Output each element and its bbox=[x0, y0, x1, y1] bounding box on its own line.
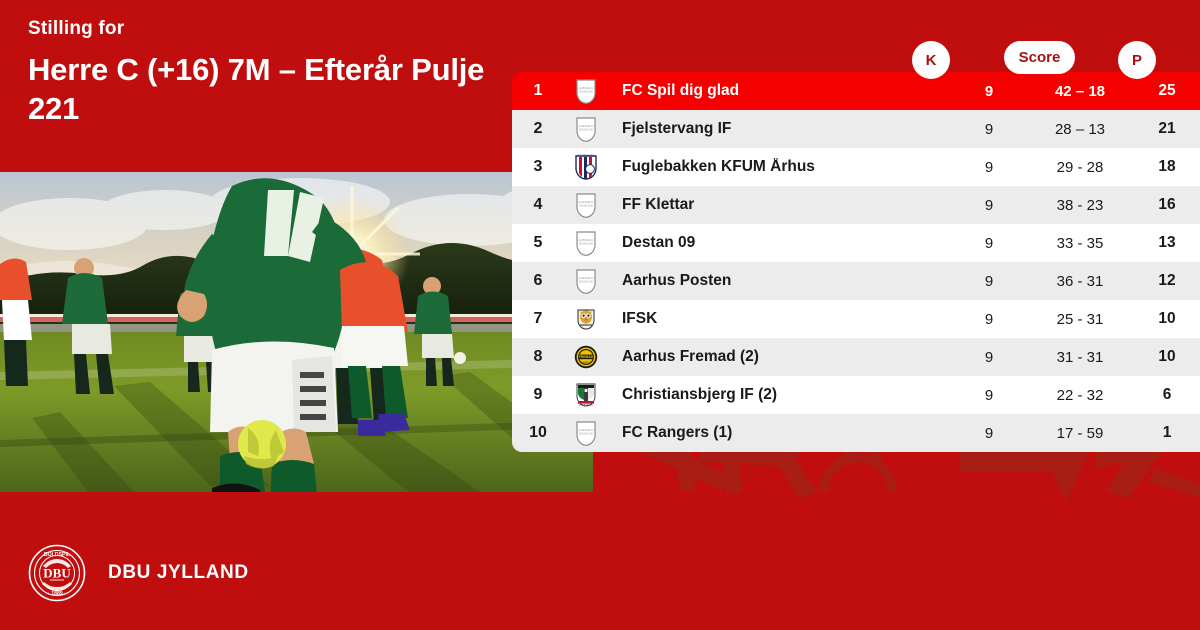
team-logo-icon: ALMINDELIGBOLDKLUB bbox=[564, 78, 608, 104]
row-matches: 9 bbox=[952, 311, 1026, 328]
row-score: 29 - 28 bbox=[1026, 159, 1134, 176]
row-matches: 9 bbox=[952, 349, 1026, 366]
row-points: 10 bbox=[1134, 310, 1200, 328]
row-rank: 1 bbox=[512, 82, 564, 100]
team-name[interactable]: FC Spil dig glad bbox=[608, 82, 952, 100]
team-logo-icon: ALMINDELIGBOLDKLUB bbox=[564, 420, 608, 446]
football-photo bbox=[0, 172, 593, 492]
footer-brand-label: DBU JYLLAND bbox=[108, 562, 249, 584]
row-matches: 9 bbox=[952, 121, 1026, 138]
standings-table: 1ALMINDELIGBOLDKLUBFC Spil dig glad942 –… bbox=[512, 72, 1200, 452]
row-rank: 7 bbox=[512, 310, 564, 328]
row-score: 22 - 32 bbox=[1026, 387, 1134, 404]
row-matches: 9 bbox=[952, 387, 1026, 404]
table-row[interactable]: 6ALMINDELIGBOLDKLUBAarhus Posten936 - 31… bbox=[512, 262, 1200, 300]
row-score: 28 – 13 bbox=[1026, 121, 1134, 138]
svg-text:BOLDSPIL: BOLDSPIL bbox=[44, 552, 71, 558]
row-points: 6 bbox=[1134, 386, 1200, 404]
team-name[interactable]: FF Klettar bbox=[608, 196, 952, 214]
dbu-seal-icon: BOLDSPIL · 1889 · DBU bbox=[28, 544, 86, 602]
svg-text:BOLDKLUB: BOLDKLUB bbox=[579, 280, 593, 283]
table-row[interactable]: 9CHRISTIANSB.Christiansbjerg IF (2)922 -… bbox=[512, 376, 1200, 414]
table-row[interactable]: 2ALMINDELIGBOLDKLUBFjelstervang IF928 – … bbox=[512, 110, 1200, 148]
row-matches: 9 bbox=[952, 197, 1026, 214]
column-header-k: K bbox=[912, 41, 950, 79]
table-row[interactable]: 4ALMINDELIGBOLDKLUBFF Klettar938 - 2316 bbox=[512, 186, 1200, 224]
table-row[interactable]: 3FUGLEBAKKENFuglebakken KFUM Århus929 - … bbox=[512, 148, 1200, 186]
row-matches: 9 bbox=[952, 83, 1026, 100]
team-name[interactable]: IFSK bbox=[608, 310, 952, 328]
row-rank: 6 bbox=[512, 272, 564, 290]
svg-text:BOLDKLUB: BOLDKLUB bbox=[579, 90, 593, 93]
header-block: Stilling for Herre C (+16) 7M – Efterår … bbox=[28, 18, 508, 128]
team-name[interactable]: Christiansbjerg IF (2) bbox=[608, 386, 952, 404]
row-points: 12 bbox=[1134, 272, 1200, 290]
team-logo-icon: ALMINDELIGBOLDKLUB bbox=[564, 230, 608, 256]
page-title: Herre C (+16) 7M – Efterår Pulje 221 bbox=[28, 50, 508, 128]
row-points: 10 bbox=[1134, 348, 1200, 366]
svg-text:DBU: DBU bbox=[43, 566, 71, 581]
team-name[interactable]: Aarhus Fremad (2) bbox=[608, 348, 952, 366]
table-row[interactable]: 10ALMINDELIGBOLDKLUBFC Rangers (1)917 - … bbox=[512, 414, 1200, 452]
table-row[interactable]: 1ALMINDELIGBOLDKLUBFC Spil dig glad942 –… bbox=[512, 72, 1200, 110]
team-logo-icon bbox=[564, 306, 608, 332]
row-score: 25 - 31 bbox=[1026, 311, 1134, 328]
row-score: 17 - 59 bbox=[1026, 425, 1134, 442]
row-points: 18 bbox=[1134, 158, 1200, 176]
row-matches: 9 bbox=[952, 425, 1026, 442]
row-score: 38 - 23 bbox=[1026, 197, 1134, 214]
row-matches: 9 bbox=[952, 235, 1026, 252]
row-rank: 8 bbox=[512, 348, 564, 366]
row-rank: 2 bbox=[512, 120, 564, 138]
row-matches: 9 bbox=[952, 159, 1026, 176]
row-points: 13 bbox=[1134, 234, 1200, 252]
svg-text:AARHUS: AARHUS bbox=[581, 362, 591, 365]
svg-text:BOLDKLUB: BOLDKLUB bbox=[579, 242, 593, 245]
team-logo-icon: ALMINDELIGBOLDKLUB bbox=[564, 192, 608, 218]
team-logo-icon: FUGLEBAKKEN bbox=[564, 154, 608, 180]
row-points: 16 bbox=[1134, 196, 1200, 214]
svg-text:CHRISTIANSB.: CHRISTIANSB. bbox=[579, 403, 594, 406]
row-rank: 9 bbox=[512, 386, 564, 404]
row-points: 25 bbox=[1134, 82, 1200, 100]
row-rank: 10 bbox=[512, 424, 564, 442]
row-rank: 5 bbox=[512, 234, 564, 252]
svg-text:FREMAD: FREMAD bbox=[579, 355, 594, 359]
team-logo-icon: ALMINDELIGBOLDKLUB bbox=[564, 116, 608, 142]
team-name[interactable]: Fjelstervang IF bbox=[608, 120, 952, 138]
svg-text:· 1889 ·: · 1889 · bbox=[48, 591, 66, 597]
table-row[interactable]: 8FREMADAARHUSAarhus Fremad (2)931 - 3110 bbox=[512, 338, 1200, 376]
column-header-score: Score bbox=[1004, 41, 1075, 74]
row-points: 21 bbox=[1134, 120, 1200, 138]
row-score: 42 – 18 bbox=[1026, 83, 1134, 100]
svg-text:FUGLEBAKKEN: FUGLEBAKKEN bbox=[577, 154, 594, 157]
row-score: 31 - 31 bbox=[1026, 349, 1134, 366]
team-logo-icon: FREMADAARHUS bbox=[564, 345, 608, 369]
svg-text:BOLDKLUB: BOLDKLUB bbox=[579, 128, 593, 131]
footer-brand-block: BOLDSPIL · 1889 · DBU DBU JYLLAND bbox=[28, 544, 249, 602]
team-name[interactable]: Aarhus Posten bbox=[608, 272, 952, 290]
row-score: 36 - 31 bbox=[1026, 273, 1134, 290]
row-score: 33 - 35 bbox=[1026, 235, 1134, 252]
row-rank: 4 bbox=[512, 196, 564, 214]
team-name[interactable]: FC Rangers (1) bbox=[608, 424, 952, 442]
table-row[interactable]: 7IFSK925 - 3110 bbox=[512, 300, 1200, 338]
svg-text:BOLDKLUB: BOLDKLUB bbox=[579, 204, 593, 207]
row-matches: 9 bbox=[952, 273, 1026, 290]
svg-text:BOLDKLUB: BOLDKLUB bbox=[579, 432, 593, 435]
table-row[interactable]: 5ALMINDELIGBOLDKLUBDestan 09933 - 3513 bbox=[512, 224, 1200, 262]
team-name[interactable]: Fuglebakken KFUM Århus bbox=[608, 158, 952, 176]
team-logo-icon: ALMINDELIGBOLDKLUB bbox=[564, 268, 608, 294]
team-name[interactable]: Destan 09 bbox=[608, 234, 952, 252]
header-kicker: Stilling for bbox=[28, 18, 508, 41]
row-rank: 3 bbox=[512, 158, 564, 176]
row-points: 1 bbox=[1134, 424, 1200, 442]
team-logo-icon: CHRISTIANSB. bbox=[564, 382, 608, 408]
column-header-p: P bbox=[1118, 41, 1156, 79]
